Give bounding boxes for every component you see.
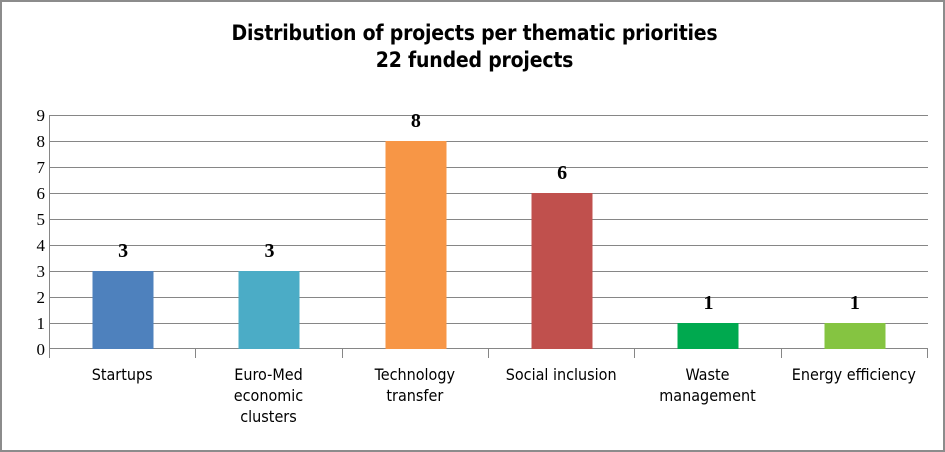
category-label-line: Waste	[634, 364, 780, 385]
x-axis-category-label: Startups	[49, 364, 195, 385]
category-label-line: clusters	[195, 406, 341, 427]
x-axis-tick-mark	[927, 349, 928, 358]
bar-4[interactable]	[532, 193, 593, 349]
y-axis-tick-label: 7	[11, 159, 45, 176]
x-axis-category-label: Technologytransfer	[342, 364, 488, 406]
category-label-line: management	[634, 385, 780, 406]
bar-slot: 3	[50, 115, 196, 349]
category-label-line: economic	[195, 385, 341, 406]
chart-title: Distribution of projects per thematic pr…	[2, 20, 945, 74]
bar-slot: 6	[489, 115, 635, 349]
category-label-line: transfer	[342, 385, 488, 406]
category-label-line: Energy efficiency	[781, 364, 927, 385]
bar-slot: 1	[782, 115, 928, 349]
bar-value-label: 1	[703, 293, 713, 313]
bar-value-label: 6	[557, 163, 567, 183]
bar-value-label: 8	[411, 111, 421, 131]
y-axis-tick-label: 3	[11, 263, 45, 280]
x-axis-tick-mark	[781, 349, 782, 358]
category-label-line: Startups	[49, 364, 195, 385]
bar-6[interactable]	[824, 323, 885, 349]
y-axis-tick-label: 9	[11, 107, 45, 124]
x-axis-tick-mark	[488, 349, 489, 358]
chart-title-line1: Distribution of projects per thematic pr…	[232, 21, 718, 45]
y-axis-tick-label: 1	[11, 315, 45, 332]
bar-1[interactable]	[93, 271, 154, 349]
x-axis-category-label: Energy efficiency	[781, 364, 927, 385]
x-axis-category-label: Social inclusion	[488, 364, 634, 385]
y-axis-tick-label: 6	[11, 185, 45, 202]
x-axis-tick-mark	[342, 349, 343, 358]
category-label-line: Euro-Med	[195, 364, 341, 385]
y-axis: 9876543210	[2, 115, 45, 349]
bar-5[interactable]	[678, 323, 739, 349]
x-axis-tick-mark	[49, 349, 50, 358]
chart-container: Distribution of projects per thematic pr…	[0, 0, 945, 452]
x-axis-category-label: Wastemanagement	[634, 364, 780, 406]
bar-3[interactable]	[385, 141, 446, 349]
bar-value-label: 1	[850, 293, 860, 313]
plot-area: 338611	[49, 115, 927, 349]
category-label-line: Technology	[342, 364, 488, 385]
y-axis-tick-label: 5	[11, 211, 45, 228]
bar-value-label: 3	[118, 241, 128, 261]
y-axis-tick-label: 0	[11, 341, 45, 358]
y-axis-tick-label: 4	[11, 237, 45, 254]
bar-2[interactable]	[239, 271, 300, 349]
chart-subtitle: 22 funded projects	[2, 47, 945, 74]
bar-value-label: 3	[264, 241, 274, 261]
bar-slot: 8	[343, 115, 489, 349]
y-axis-tick-label: 8	[11, 133, 45, 150]
bar-slot: 1	[635, 115, 781, 349]
x-axis-tick-mark	[195, 349, 196, 358]
category-label-line: Social inclusion	[488, 364, 634, 385]
x-axis-tick-mark	[634, 349, 635, 358]
y-axis-tick-label: 2	[11, 289, 45, 306]
x-axis-category-label: Euro-Medeconomicclusters	[195, 364, 341, 427]
bar-slot: 3	[196, 115, 342, 349]
